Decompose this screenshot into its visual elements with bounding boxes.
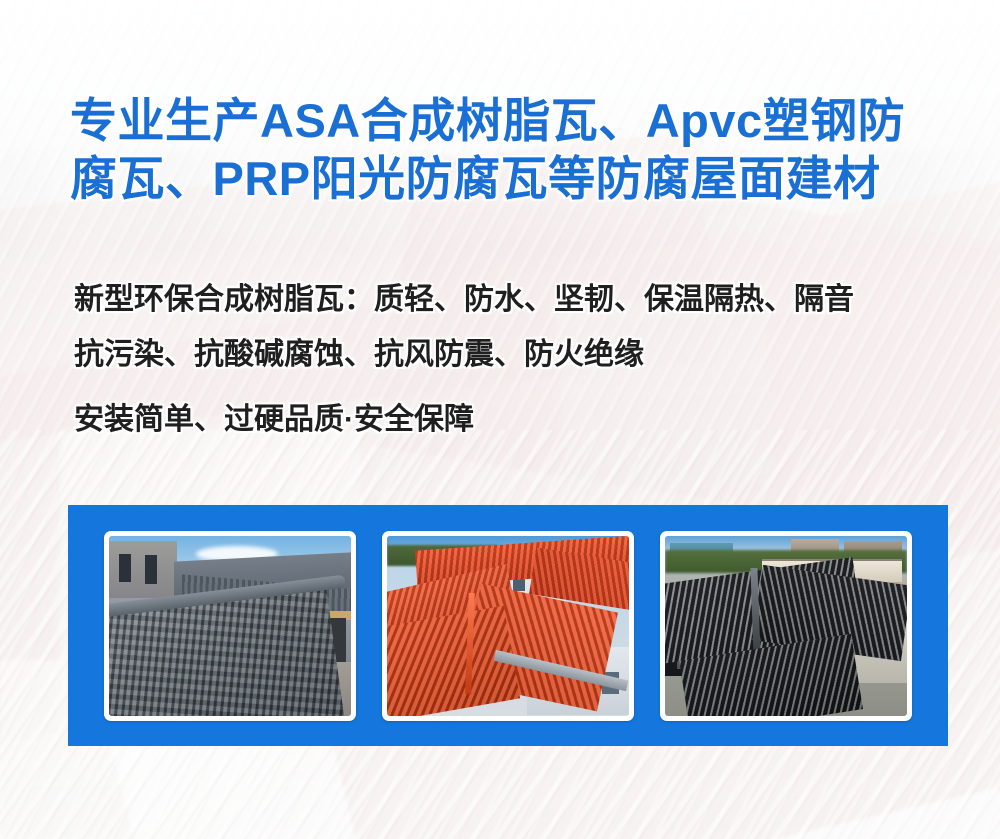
feature-line-1: 新型环保合成树脂瓦：质轻、防水、坚韧、保温隔热、隔音 (74, 272, 974, 327)
feature-line-3: 安装简单、过硬品质·安全保障 (74, 392, 974, 447)
page-title: 专业生产ASA合成树脂瓦、Apvc塑钢防 腐瓦、PRP阳光防腐瓦等防腐屋面建材 (70, 92, 960, 208)
gallery-photo-red-roof (382, 531, 634, 721)
gallery-photo-black-roof (660, 531, 912, 721)
feature-list: 新型环保合成树脂瓦：质轻、防水、坚韧、保温隔热、隔音 抗污染、抗酸碱腐蚀、抗风防… (74, 272, 974, 447)
photo-gallery-panel (68, 505, 948, 746)
photo-image-black-roof (665, 536, 907, 716)
headline-line-2: 腐瓦、PRP阳光防腐瓦等防腐屋面建材 (70, 150, 960, 208)
headline-line-1: 专业生产ASA合成树脂瓦、Apvc塑钢防 (70, 92, 960, 150)
product-promo-banner: 专业生产ASA合成树脂瓦、Apvc塑钢防 腐瓦、PRP阳光防腐瓦等防腐屋面建材 … (0, 0, 1000, 839)
gallery-photo-grey-roof (104, 531, 356, 721)
feature-line-2: 抗污染、抗酸碱腐蚀、抗风防震、防火绝缘 (74, 327, 974, 382)
photo-image-grey-roof (109, 536, 351, 716)
photo-image-red-roof (387, 536, 629, 716)
